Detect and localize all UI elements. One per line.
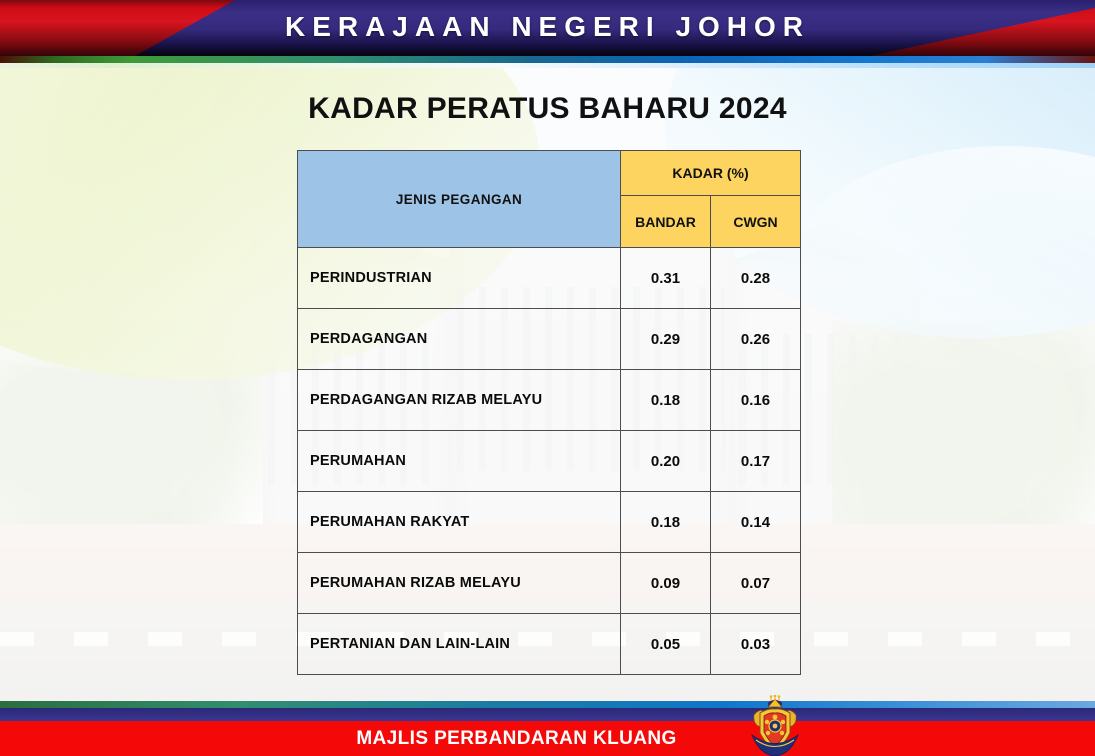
- cell-bandar: 0.31: [621, 248, 711, 309]
- top-banner: KERAJAAN NEGERI JOHOR: [0, 0, 1095, 56]
- table-row: PERUMAHAN RIZAB MELAYU 0.09 0.07: [298, 553, 801, 614]
- coat-of-arms-icon: [744, 695, 806, 756]
- cell-bandar: 0.18: [621, 370, 711, 431]
- slide-stage: KADAR PERATUS BAHARU 2024 JENIS PEGANGAN…: [0, 68, 1095, 701]
- cell-jenis: PERUMAHAN RAKYAT: [298, 492, 621, 553]
- cell-cwgn: 0.17: [711, 431, 801, 492]
- cell-cwgn: 0.03: [711, 614, 801, 675]
- table-head: JENIS PEGANGAN KADAR (%) BANDAR CWGN: [298, 151, 801, 248]
- table-row: PERINDUSTRIAN 0.31 0.28: [298, 248, 801, 309]
- cell-bandar: 0.18: [621, 492, 711, 553]
- cell-cwgn: 0.14: [711, 492, 801, 553]
- rates-table: JENIS PEGANGAN KADAR (%) BANDAR CWGN PER…: [297, 150, 801, 675]
- page-title: KADAR PERATUS BAHARU 2024: [0, 92, 1095, 126]
- cell-cwgn: 0.16: [711, 370, 801, 431]
- cell-jenis: PERTANIAN DAN LAIN-LAIN: [298, 614, 621, 675]
- cell-bandar: 0.20: [621, 431, 711, 492]
- rates-table-wrapper: JENIS PEGANGAN KADAR (%) BANDAR CWGN PER…: [297, 150, 800, 675]
- cell-jenis: PERDAGANGAN: [298, 309, 621, 370]
- cell-bandar: 0.29: [621, 309, 711, 370]
- table-row: PERTANIAN DAN LAIN-LAIN 0.05 0.03: [298, 614, 801, 675]
- column-header-kadar: KADAR (%): [621, 151, 801, 196]
- footer-title: MAJLIS PERBANDARAN KLUANG: [0, 721, 1095, 756]
- banner-title: KERAJAAN NEGERI JOHOR: [0, 0, 1095, 56]
- cell-cwgn: 0.28: [711, 248, 801, 309]
- table-row: PERUMAHAN RAKYAT 0.18 0.14: [298, 492, 801, 553]
- cell-jenis: PERINDUSTRIAN: [298, 248, 621, 309]
- footer-gradient-rule: [0, 701, 1095, 708]
- column-header-cwgn: CWGN: [711, 196, 801, 248]
- table-row: PERDAGANGAN 0.29 0.26: [298, 309, 801, 370]
- table-row: PERDAGANGAN RIZAB MELAYU 0.18 0.16: [298, 370, 801, 431]
- footer-blue-stripe: [0, 708, 1095, 721]
- column-header-bandar: BANDAR: [621, 196, 711, 248]
- cell-bandar: 0.09: [621, 553, 711, 614]
- column-header-jenis-pegangan: JENIS PEGANGAN: [298, 151, 621, 248]
- footer-bar: MAJLIS PERBANDARAN KLUANG: [0, 701, 1095, 756]
- table-body: PERINDUSTRIAN 0.31 0.28 PERDAGANGAN 0.29…: [298, 248, 801, 675]
- cell-jenis: PERDAGANGAN RIZAB MELAYU: [298, 370, 621, 431]
- cell-bandar: 0.05: [621, 614, 711, 675]
- banner-gradient-rule: [0, 56, 1095, 63]
- cell-jenis: PERUMAHAN: [298, 431, 621, 492]
- cell-cwgn: 0.26: [711, 309, 801, 370]
- table-header-row-1: JENIS PEGANGAN KADAR (%): [298, 151, 801, 196]
- cell-jenis: PERUMAHAN RIZAB MELAYU: [298, 553, 621, 614]
- table-row: PERUMAHAN 0.20 0.17: [298, 431, 801, 492]
- cell-cwgn: 0.07: [711, 553, 801, 614]
